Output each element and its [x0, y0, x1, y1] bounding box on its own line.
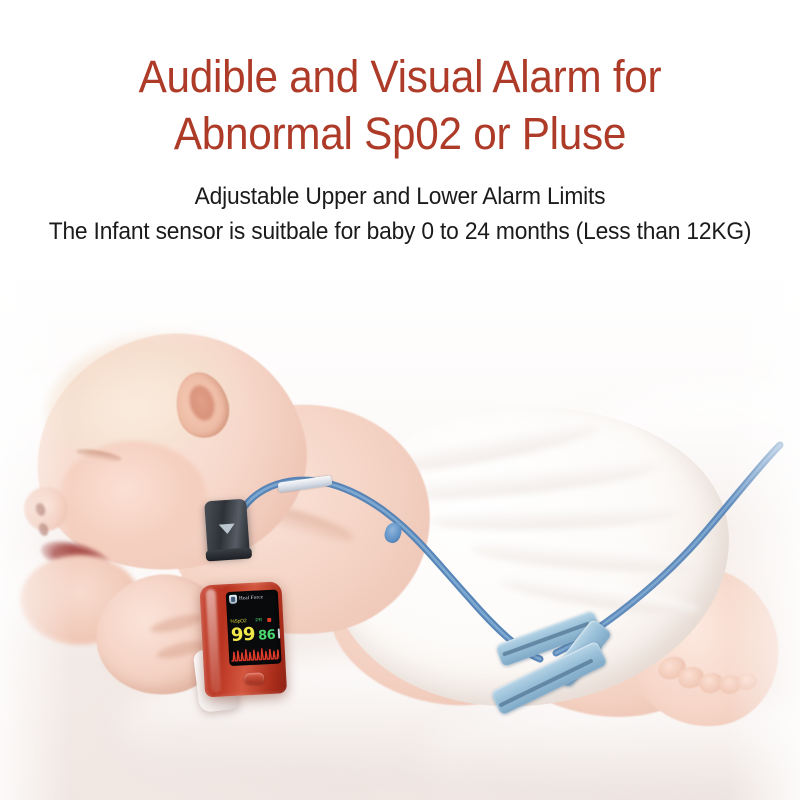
oximeter-power-button[interactable]: [244, 672, 265, 684]
subtitle-line-1: Adjustable Upper and Lower Alarm Limits: [28, 180, 772, 214]
pr-value: 86: [258, 629, 276, 643]
brand-name: Heal Force: [239, 595, 263, 601]
oximeter-display: Heal Force %SpO2 PR 99 86: [226, 589, 282, 666]
display-readings: 99 86: [231, 624, 280, 644]
pleth-waveform: [231, 646, 280, 662]
banner-text-block: Audible and Visual Alarm for Abnormal Sp…: [0, 0, 800, 249]
subtitle-line-2: The Infant sensor is suitbale for baby 0…: [28, 215, 772, 249]
brand-logo: Heal Force: [229, 593, 264, 604]
heart-icon: [267, 618, 271, 622]
spo2-value: 99: [231, 626, 256, 645]
headline-line-1: Audible and Visual Alarm for: [24, 48, 776, 105]
headline-line-2: Abnormal Sp02 or Pluse: [24, 105, 776, 162]
pulse-oximeter-device: Heal Force %SpO2 PR 99 86: [186, 552, 314, 718]
pr-label: PR: [255, 617, 262, 623]
product-banner: Audible and Visual Alarm for Abnormal Sp…: [0, 0, 800, 800]
product-photo: Heal Force %SpO2 PR 99 86: [0, 255, 800, 800]
sensor-connector-plug: [204, 499, 250, 558]
triangle-icon: [219, 523, 236, 534]
heal-force-logo-icon: [229, 595, 237, 604]
